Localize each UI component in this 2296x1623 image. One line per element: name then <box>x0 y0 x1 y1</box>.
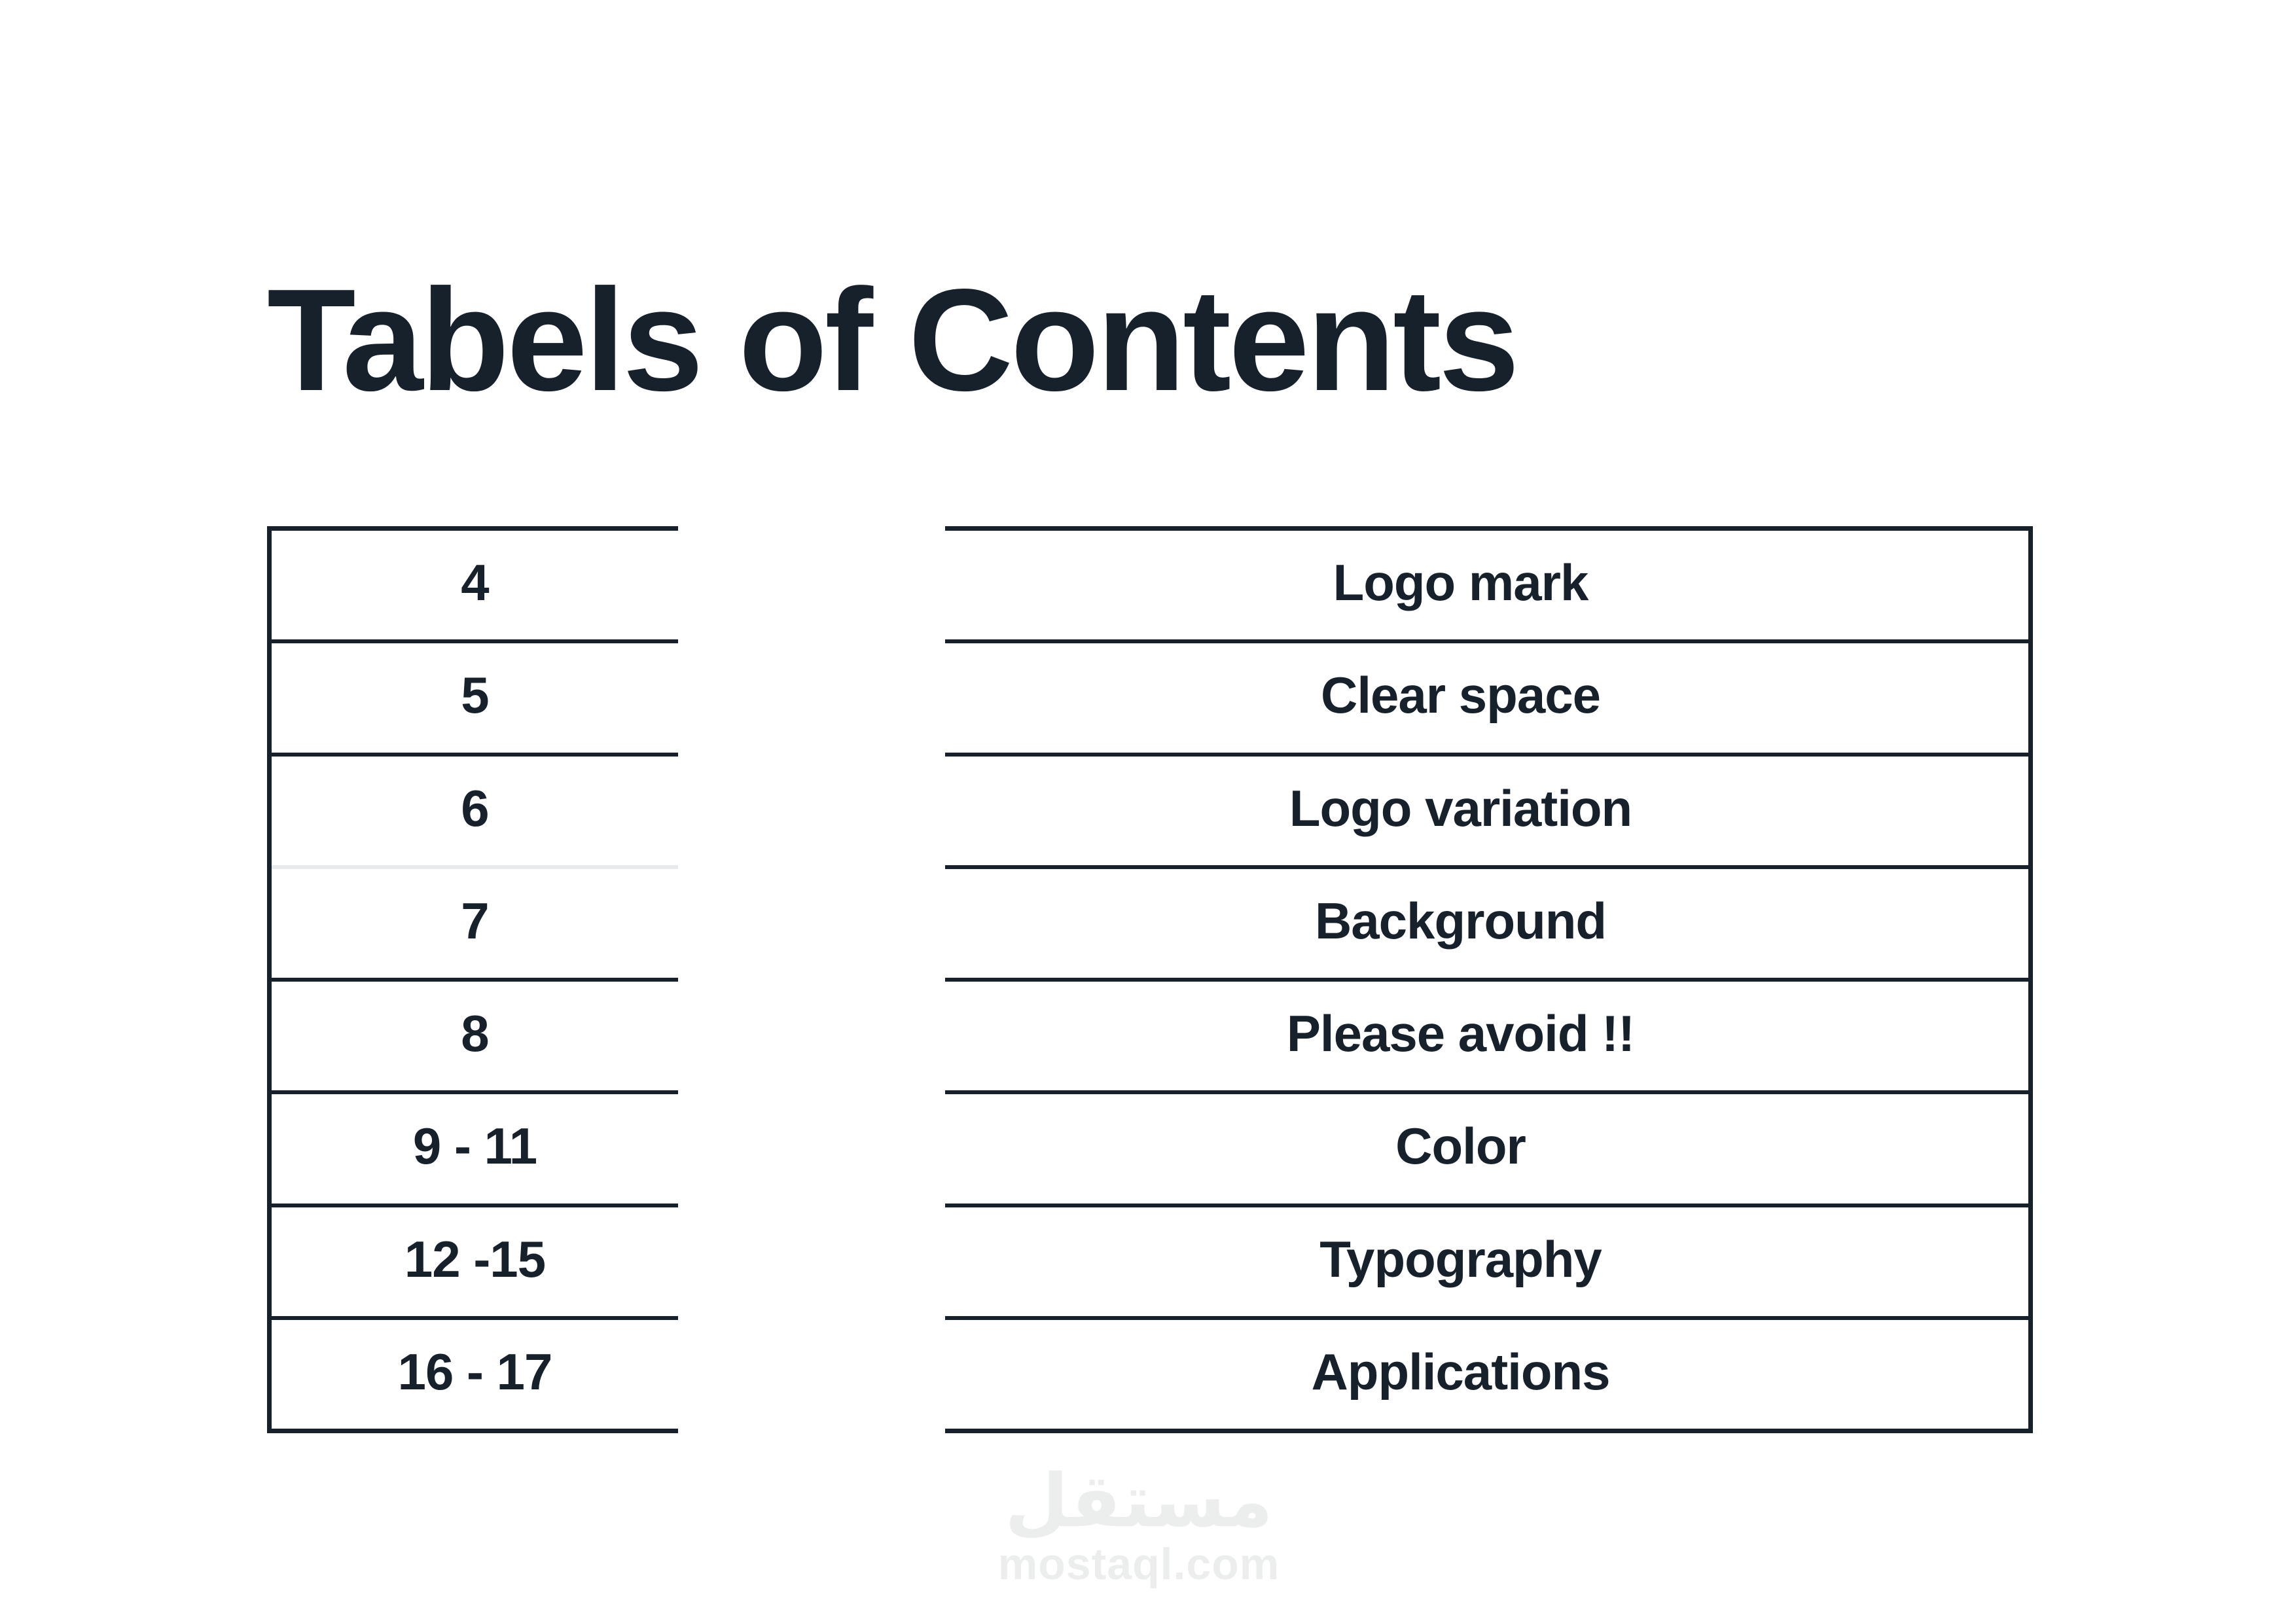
mostaql-watermark: مستقل mostaql.com <box>1008 1465 1270 1596</box>
slide-canvas: Tabels of Contents 4 5 6 7 8 9 - 11 12 <box>0 0 2296 1623</box>
table-row[interactable]: Logo mark <box>945 531 2028 643</box>
toc-page-numbers-table: 4 5 6 7 8 9 - 11 12 -15 16 - 17 <box>267 526 678 1433</box>
toc-section-name: Typography <box>1319 1234 1602 1285</box>
table-row[interactable]: 9 - 11 <box>272 1094 678 1207</box>
toc-page-number: 16 - 17 <box>398 1346 552 1397</box>
toc-page-number: 12 -15 <box>404 1234 545 1285</box>
toc-page-number: 8 <box>461 1008 488 1059</box>
page-title: Tabels of Contents <box>267 266 1517 414</box>
toc-section-name: Clear space <box>1321 669 1600 721</box>
mostaql-domain-label: mostaql.com <box>998 1542 1280 1586</box>
table-row[interactable]: Typography <box>945 1207 2028 1320</box>
table-row[interactable]: Please avoid !! <box>945 982 2028 1094</box>
toc-section-names-table: Logo mark Clear space Logo variation Bac… <box>945 526 2033 1433</box>
table-row[interactable]: 4 <box>272 531 678 643</box>
toc-section-name: Background <box>1315 895 1606 946</box>
mostaql-arabic-wordmark: مستقل <box>1005 1465 1273 1538</box>
table-row[interactable]: Background <box>945 869 2028 982</box>
table-row[interactable]: 16 - 17 <box>272 1320 678 1429</box>
toc-section-name: Color <box>1395 1120 1526 1171</box>
table-row[interactable]: 7 <box>272 869 678 982</box>
table-row[interactable]: Logo variation <box>945 757 2028 869</box>
toc-section-name: Logo mark <box>1333 557 1588 608</box>
toc-page-number: 7 <box>461 895 488 946</box>
table-of-contents: 4 5 6 7 8 9 - 11 12 -15 16 - 17 <box>0 526 2296 1436</box>
toc-page-number: 5 <box>461 669 488 721</box>
table-row[interactable]: 5 <box>272 643 678 756</box>
toc-section-name: Logo variation <box>1289 783 1632 834</box>
toc-page-number: 9 - 11 <box>413 1120 537 1171</box>
toc-section-name: Applications <box>1311 1346 1609 1397</box>
toc-page-number: 6 <box>461 783 488 834</box>
toc-section-name: Please avoid !! <box>1287 1008 1634 1059</box>
toc-page-number: 4 <box>461 557 488 608</box>
table-row[interactable]: Clear space <box>945 643 2028 756</box>
table-row[interactable]: Color <box>945 1094 2028 1207</box>
table-row[interactable]: 12 -15 <box>272 1207 678 1320</box>
table-row[interactable]: 6 <box>272 757 678 869</box>
table-row[interactable]: Applications <box>945 1320 2028 1429</box>
table-row[interactable]: 8 <box>272 982 678 1094</box>
